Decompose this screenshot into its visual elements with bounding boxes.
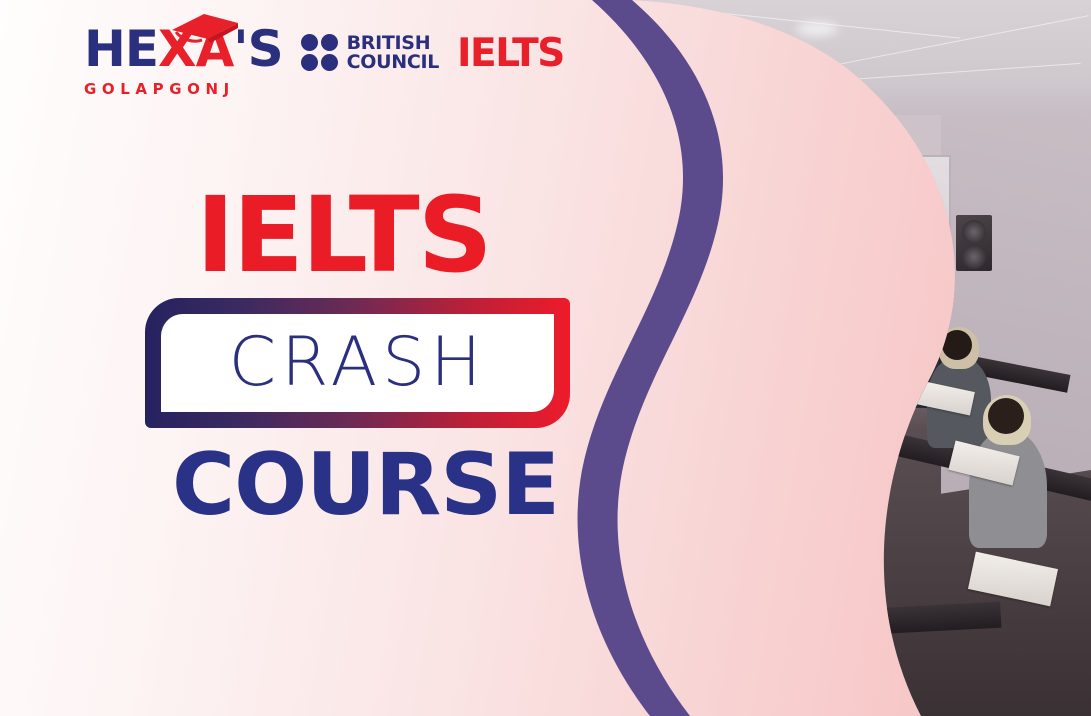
student-headscarf [724,409,784,472]
ceiling-fan-icon [730,52,775,87]
instructor-body [793,196,841,292]
student-body [671,272,719,334]
headline-stack: IELTS CRASH COURSE [0,188,620,528]
student-body [627,285,677,349]
student-headscarf [893,305,928,342]
desk-row [681,602,1002,645]
hexas-sublabel: GOLAPGONJ [84,80,283,98]
student-body [693,370,751,450]
student-headscarf [687,281,714,309]
hexas-logo: HEXA'S GOLAPGONJ [84,24,283,98]
headline-course: COURSE [172,442,620,528]
student-head [730,412,774,456]
led-sign-text: IELTS [817,123,847,134]
assistant-head [701,192,724,219]
led-sign: IELTS [786,116,878,140]
crash-badge: CRASH [145,298,570,428]
left-content: HEXA'S GOLAPGONJ [0,0,620,716]
student-body [811,312,863,384]
student-head [942,330,972,360]
whiteboard [716,155,951,300]
student-head [823,291,847,315]
headline-crash: CRASH [229,329,487,397]
logo-row: HEXA'S GOLAPGONJ [84,24,564,98]
four-dots-logo-icon [301,34,338,71]
ceiling-fan-rod [744,44,747,58]
assistant-body [691,218,733,324]
paper-sheet [968,552,1058,607]
student-headscarf [820,289,852,323]
student-head [707,346,734,373]
student-head [896,307,922,333]
student-head [634,352,667,385]
student-headscarf [703,344,739,382]
student-headscarf [636,263,667,296]
bc-line1: BRITISH [347,34,439,52]
student-headscarf [738,321,776,361]
ceiling-fan-icon [749,57,827,71]
tv-stand [643,258,647,306]
student-head [683,252,705,274]
student-body [707,452,803,582]
paper-sheet [860,334,911,362]
student-head [742,323,770,351]
student-body [849,300,897,366]
student-headscarf [630,350,675,397]
poster-root: IELTS [0,0,1091,716]
paper-sheet [680,420,737,451]
student-head [988,398,1024,434]
hexas-part1: HE [84,24,158,74]
british-council-wordmark: BRITISH COUNCIL [347,34,439,70]
speaker [956,215,992,271]
student-body [727,348,789,434]
student-body [617,382,689,478]
bc-line2: COUNCIL [347,53,439,71]
instructor-head [807,170,829,196]
ceiling-light [796,22,838,36]
instructor-lanyard [815,198,820,232]
assistant-hair [697,188,728,234]
wall-panel [746,250,846,310]
student-head [690,282,710,302]
ceiling-fan-hub [736,56,756,67]
hexas-wordmark: HEXA'S [84,24,283,74]
student-head [861,280,883,302]
crash-badge-inner: CRASH [161,314,554,412]
student-headscarf [858,278,888,310]
paper-sheet [634,344,678,369]
student-head [639,265,662,288]
student-body [679,300,723,360]
student-headscarf [680,250,710,282]
ceiling-fan-icon [681,57,745,71]
instructor-hair [807,168,829,180]
british-council-logo: BRITISH COUNCIL [301,34,439,71]
ielts-logo: IELTS [457,34,564,73]
ceiling-light [619,38,665,54]
headline-ielts: IELTS [196,188,620,284]
instructor-badge [812,230,823,244]
paper-sheet [831,185,858,200]
paper-sheet [760,633,853,679]
paper-sheet [762,436,822,467]
